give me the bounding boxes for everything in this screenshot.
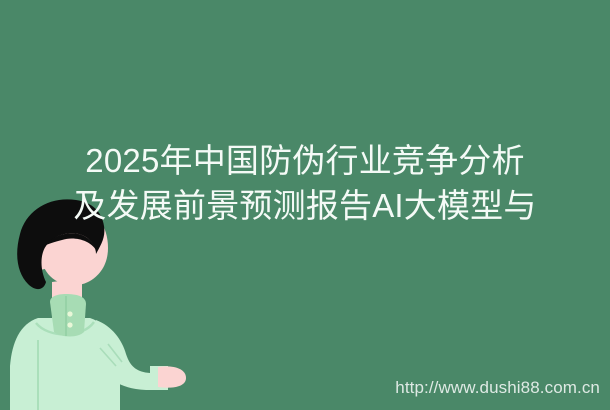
watermark-url: http://www.dushi88.com.cn [395,378,600,398]
hand [158,366,186,387]
poster-image: 2025年中国防伪行业竞争分析 及发展前景预测报告AI大模型与 http://w… [0,0,610,410]
collar-button-top [67,311,72,316]
collar-button-bottom [67,322,72,327]
person-illustration [0,190,210,410]
